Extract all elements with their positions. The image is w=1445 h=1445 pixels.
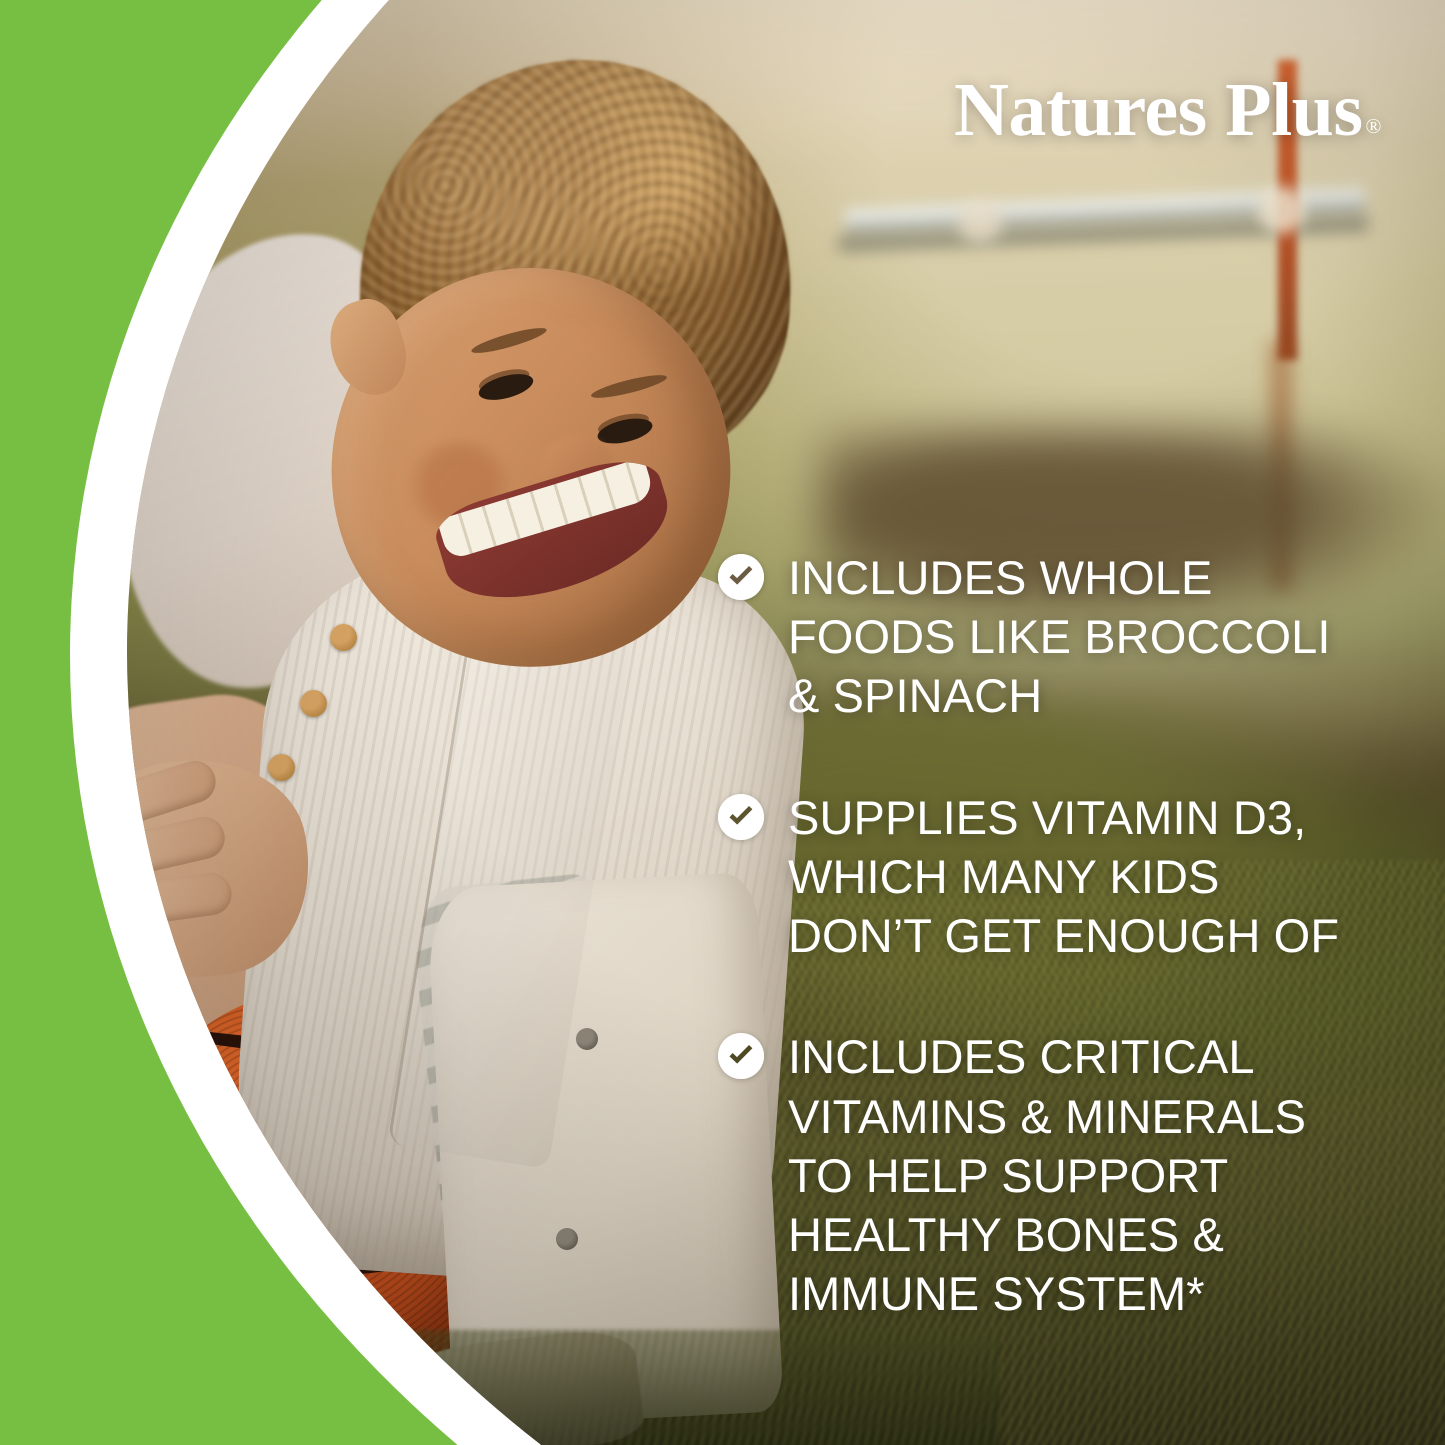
benefit-text: INCLUDES WHOLE FOODS LIKE BROCCOLI & SPI…: [788, 548, 1331, 726]
benefit-text: SUPPLIES VITAMIN D3, WHICH MANY KIDS DON…: [788, 788, 1339, 966]
benefit-list: INCLUDES WHOLE FOODS LIKE BROCCOLI & SPI…: [718, 548, 1398, 1323]
brand-logo: Natures Plus®: [954, 72, 1381, 148]
check-circle-icon: [718, 794, 764, 840]
benefit-text: INCLUDES CRITICAL VITAMINS & MINERALS TO…: [788, 1027, 1306, 1323]
benefit-item: SUPPLIES VITAMIN D3, WHICH MANY KIDS DON…: [718, 788, 1398, 966]
benefit-item: INCLUDES CRITICAL VITAMINS & MINERALS TO…: [718, 1027, 1398, 1323]
benefit-item: INCLUDES WHOLE FOODS LIKE BROCCOLI & SPI…: [718, 548, 1398, 726]
check-circle-icon: [718, 1033, 764, 1079]
brand-name: Natures Plus: [954, 68, 1363, 152]
registered-trademark-icon: ®: [1366, 114, 1381, 138]
check-circle-icon: [718, 554, 764, 600]
product-benefits-banner: Natures Plus® INCLUDES WHOLE FOODS LIKE …: [0, 0, 1445, 1445]
